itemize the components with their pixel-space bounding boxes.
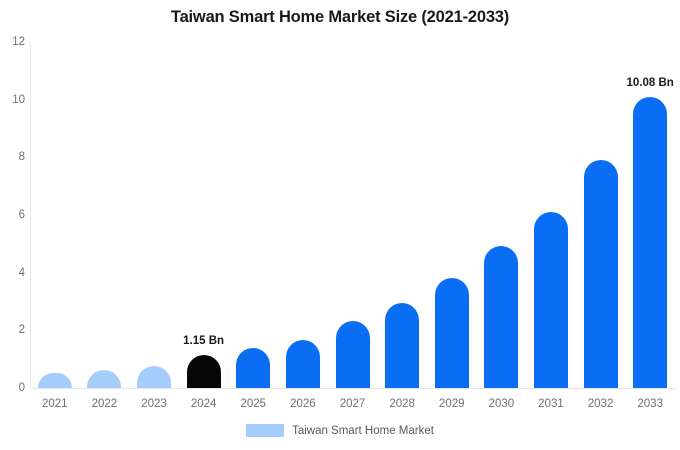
bar[interactable] (38, 373, 72, 388)
bar[interactable] (633, 97, 667, 388)
legend-swatch-icon (246, 424, 284, 437)
bar[interactable] (584, 160, 618, 388)
bar[interactable] (534, 212, 568, 388)
y-axis-tick-label: 12 (3, 36, 25, 48)
bar[interactable] (87, 370, 121, 388)
bar[interactable] (435, 278, 469, 388)
bar[interactable] (137, 366, 171, 388)
bar[interactable] (336, 321, 370, 388)
x-axis-line (30, 388, 675, 389)
y-axis: 024681012 (0, 0, 25, 450)
bar-chart: Taiwan Smart Home Market Size (2021-2033… (0, 0, 680, 450)
y-axis-tick-label: 4 (3, 267, 25, 279)
plot-area (30, 42, 673, 388)
y-axis-tick-label: 0 (3, 382, 25, 394)
y-axis-tick-label: 10 (3, 94, 25, 106)
bar[interactable] (286, 340, 320, 388)
chart-title: Taiwan Smart Home Market Size (2021-2033… (0, 8, 680, 27)
y-axis-tick-label: 8 (3, 151, 25, 163)
y-axis-tick-label: 2 (3, 324, 25, 336)
bar[interactable] (236, 348, 270, 388)
bar-value-label: 1.15 Bn (149, 335, 259, 347)
bar-value-label: 10.08 Bn (595, 77, 680, 89)
bar[interactable] (484, 246, 518, 388)
legend-label: Taiwan Smart Home Market (292, 425, 434, 437)
bar[interactable] (385, 303, 419, 388)
x-axis-tick-label: 2033 (615, 398, 680, 410)
y-axis-tick-label: 6 (3, 209, 25, 221)
chart-legend: Taiwan Smart Home Market (0, 424, 680, 437)
bar[interactable] (187, 355, 221, 388)
